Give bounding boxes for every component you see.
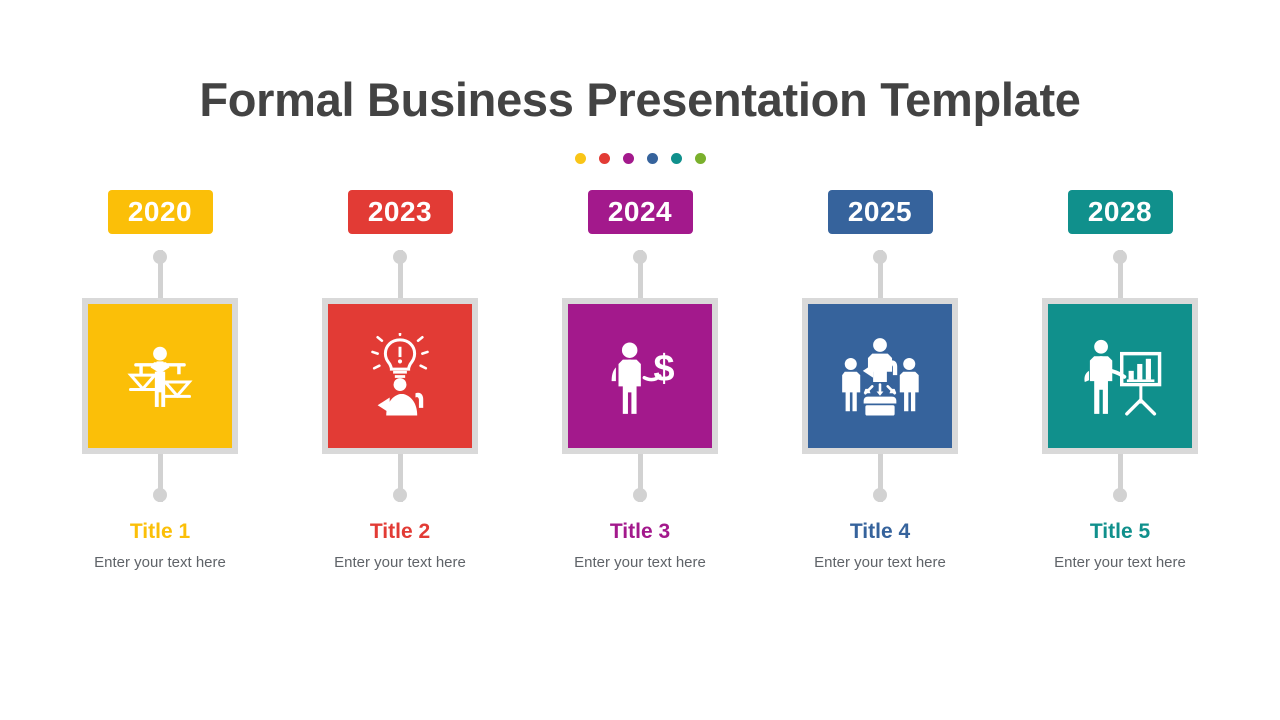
year-badge-2[interactable]: 2023 [348,190,453,234]
timeline-item-1: 2020 [42,190,278,571]
dot-teal [671,153,682,164]
icon-frame-4[interactable] [802,298,958,454]
connector-bottom-4 [873,454,887,502]
item-title-5: Title 5 [1090,520,1150,544]
connector-top-2 [393,250,407,298]
connector-bottom-2 [393,454,407,502]
item-title-1: Title 1 [130,520,190,544]
year-label: 2025 [848,196,912,228]
connector-dot [393,250,407,264]
page-title: Formal Business Presentation Template [0,72,1280,127]
item-text-3[interactable]: Enter your text here [574,554,706,571]
dot-red [599,153,610,164]
year-label: 2023 [368,196,432,228]
year-label: 2028 [1088,196,1152,228]
dot-green [695,153,706,164]
item-text-5[interactable]: Enter your text here [1054,554,1186,571]
icon-frame-3[interactable]: $ [562,298,718,454]
connector-dot [1113,488,1127,502]
connector-dot [873,250,887,264]
icon-frame-5[interactable] [1042,298,1198,454]
year-badge-3[interactable]: 2024 [588,190,693,234]
svg-text:$: $ [654,348,675,390]
item-title-2: Title 2 [370,520,430,544]
dot-blue [647,153,658,164]
connector-dot [633,250,647,264]
item-text-2[interactable]: Enter your text here [334,554,466,571]
year-label: 2024 [608,196,672,228]
timeline-item-3: 2024 $ Title 3 Enter your text h [522,190,758,571]
item-text-4[interactable]: Enter your text here [814,554,946,571]
dot-amber [575,153,586,164]
connector-dot [153,250,167,264]
connector-top-4 [873,250,887,298]
presenter-chart-board-icon [1077,333,1163,419]
dot-magenta [623,153,634,164]
year-badge-1[interactable]: 2020 [108,190,213,234]
connector-top-3 [633,250,647,298]
connector-bottom-1 [153,454,167,502]
connector-bottom-5 [1113,454,1127,502]
item-title-4: Title 4 [850,520,910,544]
icon-tile-2 [328,304,472,448]
icon-tile-5 [1048,304,1192,448]
connector-dot [1113,250,1127,264]
timeline-item-4: 2025 [762,190,998,571]
connector-dot [873,488,887,502]
icon-tile-4 [808,304,952,448]
timeline-item-2: 2023 [282,190,518,571]
timeline-item-5: 2028 [1002,190,1238,571]
item-text-1[interactable]: Enter your text here [94,554,226,571]
presentation-slide: Formal Business Presentation Template 20… [0,0,1280,720]
connector-top-5 [1113,250,1127,298]
year-label: 2020 [128,196,192,228]
timeline-row: 2020 [42,190,1238,571]
icon-frame-1[interactable] [82,298,238,454]
connector-dot [633,488,647,502]
balance-scales-person-icon [117,333,203,419]
lightbulb-idea-person-icon [357,333,443,419]
year-badge-4[interactable]: 2025 [828,190,933,234]
item-title-3: Title 3 [610,520,670,544]
icon-tile-1 [88,304,232,448]
connector-dot [153,488,167,502]
call-center-team-icon [837,333,923,419]
connector-top-1 [153,250,167,298]
connector-bottom-3 [633,454,647,502]
businessman-dollar-icon: $ [597,333,683,419]
connector-dot [393,488,407,502]
year-badge-5[interactable]: 2028 [1068,190,1173,234]
icon-tile-3: $ [568,304,712,448]
icon-frame-2[interactable] [322,298,478,454]
dot-divider [0,153,1280,164]
